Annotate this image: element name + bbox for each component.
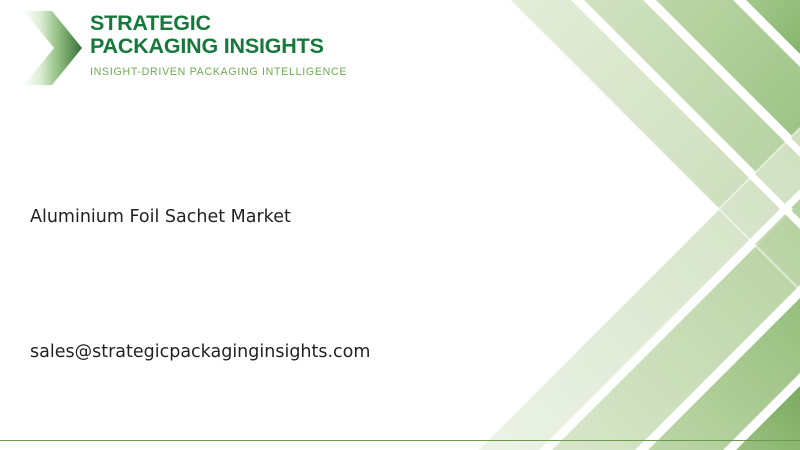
band-highlights	[470, 0, 800, 450]
title-slide: STRATEGIC PACKAGING INSIGHTS INSIGHT-DRI…	[0, 0, 800, 450]
band-separators	[524, 0, 800, 450]
logo-name-line-2: PACKAGING INSIGHTS	[90, 35, 347, 58]
diagonal-bands-svg	[470, 0, 800, 450]
logo-wordmark: STRATEGIC PACKAGING INSIGHTS INSIGHT-DRI…	[90, 8, 347, 78]
chevron-right-icon	[22, 9, 84, 87]
logo-name-line-1: STRATEGIC	[90, 12, 347, 35]
contact-email[interactable]: sales@strategicpackaginginsights.com	[30, 341, 370, 363]
logo-tagline: INSIGHT-DRIVEN PACKAGING INTELLIGENCE	[90, 66, 347, 78]
footer-divider	[0, 440, 800, 441]
lower-band-group	[470, 128, 800, 450]
report-title: Aluminium Foil Sachet Market	[30, 206, 291, 228]
upper-band-group	[500, 0, 800, 290]
company-logo: STRATEGIC PACKAGING INSIGHTS INSIGHT-DRI…	[22, 8, 347, 87]
decorative-diagonal-bands	[470, 0, 800, 450]
